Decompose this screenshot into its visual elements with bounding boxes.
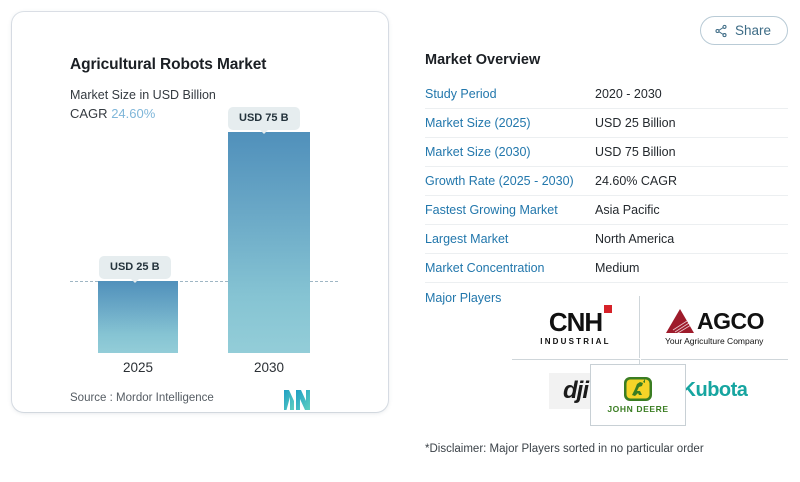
bar-chart-plot: USD 25 B USD 75 B 2025 2030	[12, 12, 388, 412]
kubota-wordmark: Kubota	[682, 379, 748, 402]
agco-wordmark: AGCO	[697, 310, 764, 333]
share-button-label: Share	[735, 23, 771, 38]
table-row: Market Size (2030) USD 75 Billion	[425, 138, 788, 167]
john-deere-wordmark: JOHN DEERE	[607, 404, 668, 414]
row-label: Fastest Growing Market	[425, 203, 595, 217]
row-value: 24.60% CAGR	[595, 174, 677, 188]
market-overview-table: Study Period 2020 - 2030 Market Size (20…	[425, 80, 788, 313]
row-value: Asia Pacific	[595, 203, 660, 217]
x-tick-2030: 2030	[214, 360, 324, 375]
row-label: Market Size (2030)	[425, 145, 595, 159]
bar-2030[interactable]	[228, 132, 310, 353]
row-label: Largest Market	[425, 232, 595, 246]
table-row: Fastest Growing Market Asia Pacific	[425, 196, 788, 225]
cnh-wordmark: CNH	[540, 309, 610, 335]
row-value: 2020 - 2030	[595, 87, 662, 101]
table-row: Growth Rate (2025 - 2030) 24.60% CAGR	[425, 167, 788, 196]
logo-cnh-industrial: CNH INDUSTRIAL	[512, 296, 640, 358]
row-label: Market Concentration	[425, 261, 595, 275]
share-icon	[714, 24, 728, 38]
john-deere-deer-icon	[623, 376, 653, 402]
bar-2025[interactable]	[98, 281, 178, 353]
chart-card: Agricultural Robots Market Market Size i…	[12, 12, 388, 412]
market-overview-title: Market Overview	[425, 52, 540, 68]
row-label: Growth Rate (2025 - 2030)	[425, 174, 595, 188]
bar-label-2030: USD 75 B	[228, 107, 300, 130]
mordor-intelligence-logo	[284, 390, 310, 410]
agco-triangle-icon	[665, 308, 695, 334]
table-row: Largest Market North America	[425, 225, 788, 254]
agco-tagline: Your Agriculture Company	[665, 336, 763, 346]
screenshot-root: Share Agricultural Robots Market Market …	[0, 0, 800, 482]
cnh-subtext: INDUSTRIAL	[540, 337, 610, 346]
row-value: North America	[595, 232, 674, 246]
bar-label-2025: USD 25 B	[99, 256, 171, 279]
major-players-logo-grid: CNH INDUSTRIAL AGCO Your Agriculture Com…	[512, 296, 788, 426]
table-row: Study Period 2020 - 2030	[425, 80, 788, 109]
share-button[interactable]: Share	[700, 16, 788, 45]
row-value: USD 75 Billion	[595, 145, 676, 159]
row-label: Market Size (2025)	[425, 116, 595, 130]
table-row: Market Concentration Medium	[425, 254, 788, 283]
dji-wordmark: dji	[563, 377, 588, 404]
major-players-disclaimer: *Disclaimer: Major Players sorted in no …	[425, 443, 704, 455]
logo-agco: AGCO Your Agriculture Company	[641, 296, 788, 358]
row-value: Medium	[595, 261, 639, 275]
row-label: Study Period	[425, 87, 595, 101]
chart-source: Source : Mordor Intelligence	[70, 392, 214, 404]
row-value: USD 25 Billion	[595, 116, 676, 130]
logo-john-deere: JOHN DEERE	[590, 364, 686, 426]
x-tick-2025: 2025	[83, 360, 193, 375]
cnh-red-square-icon	[604, 305, 612, 313]
table-row: Market Size (2025) USD 25 Billion	[425, 109, 788, 138]
